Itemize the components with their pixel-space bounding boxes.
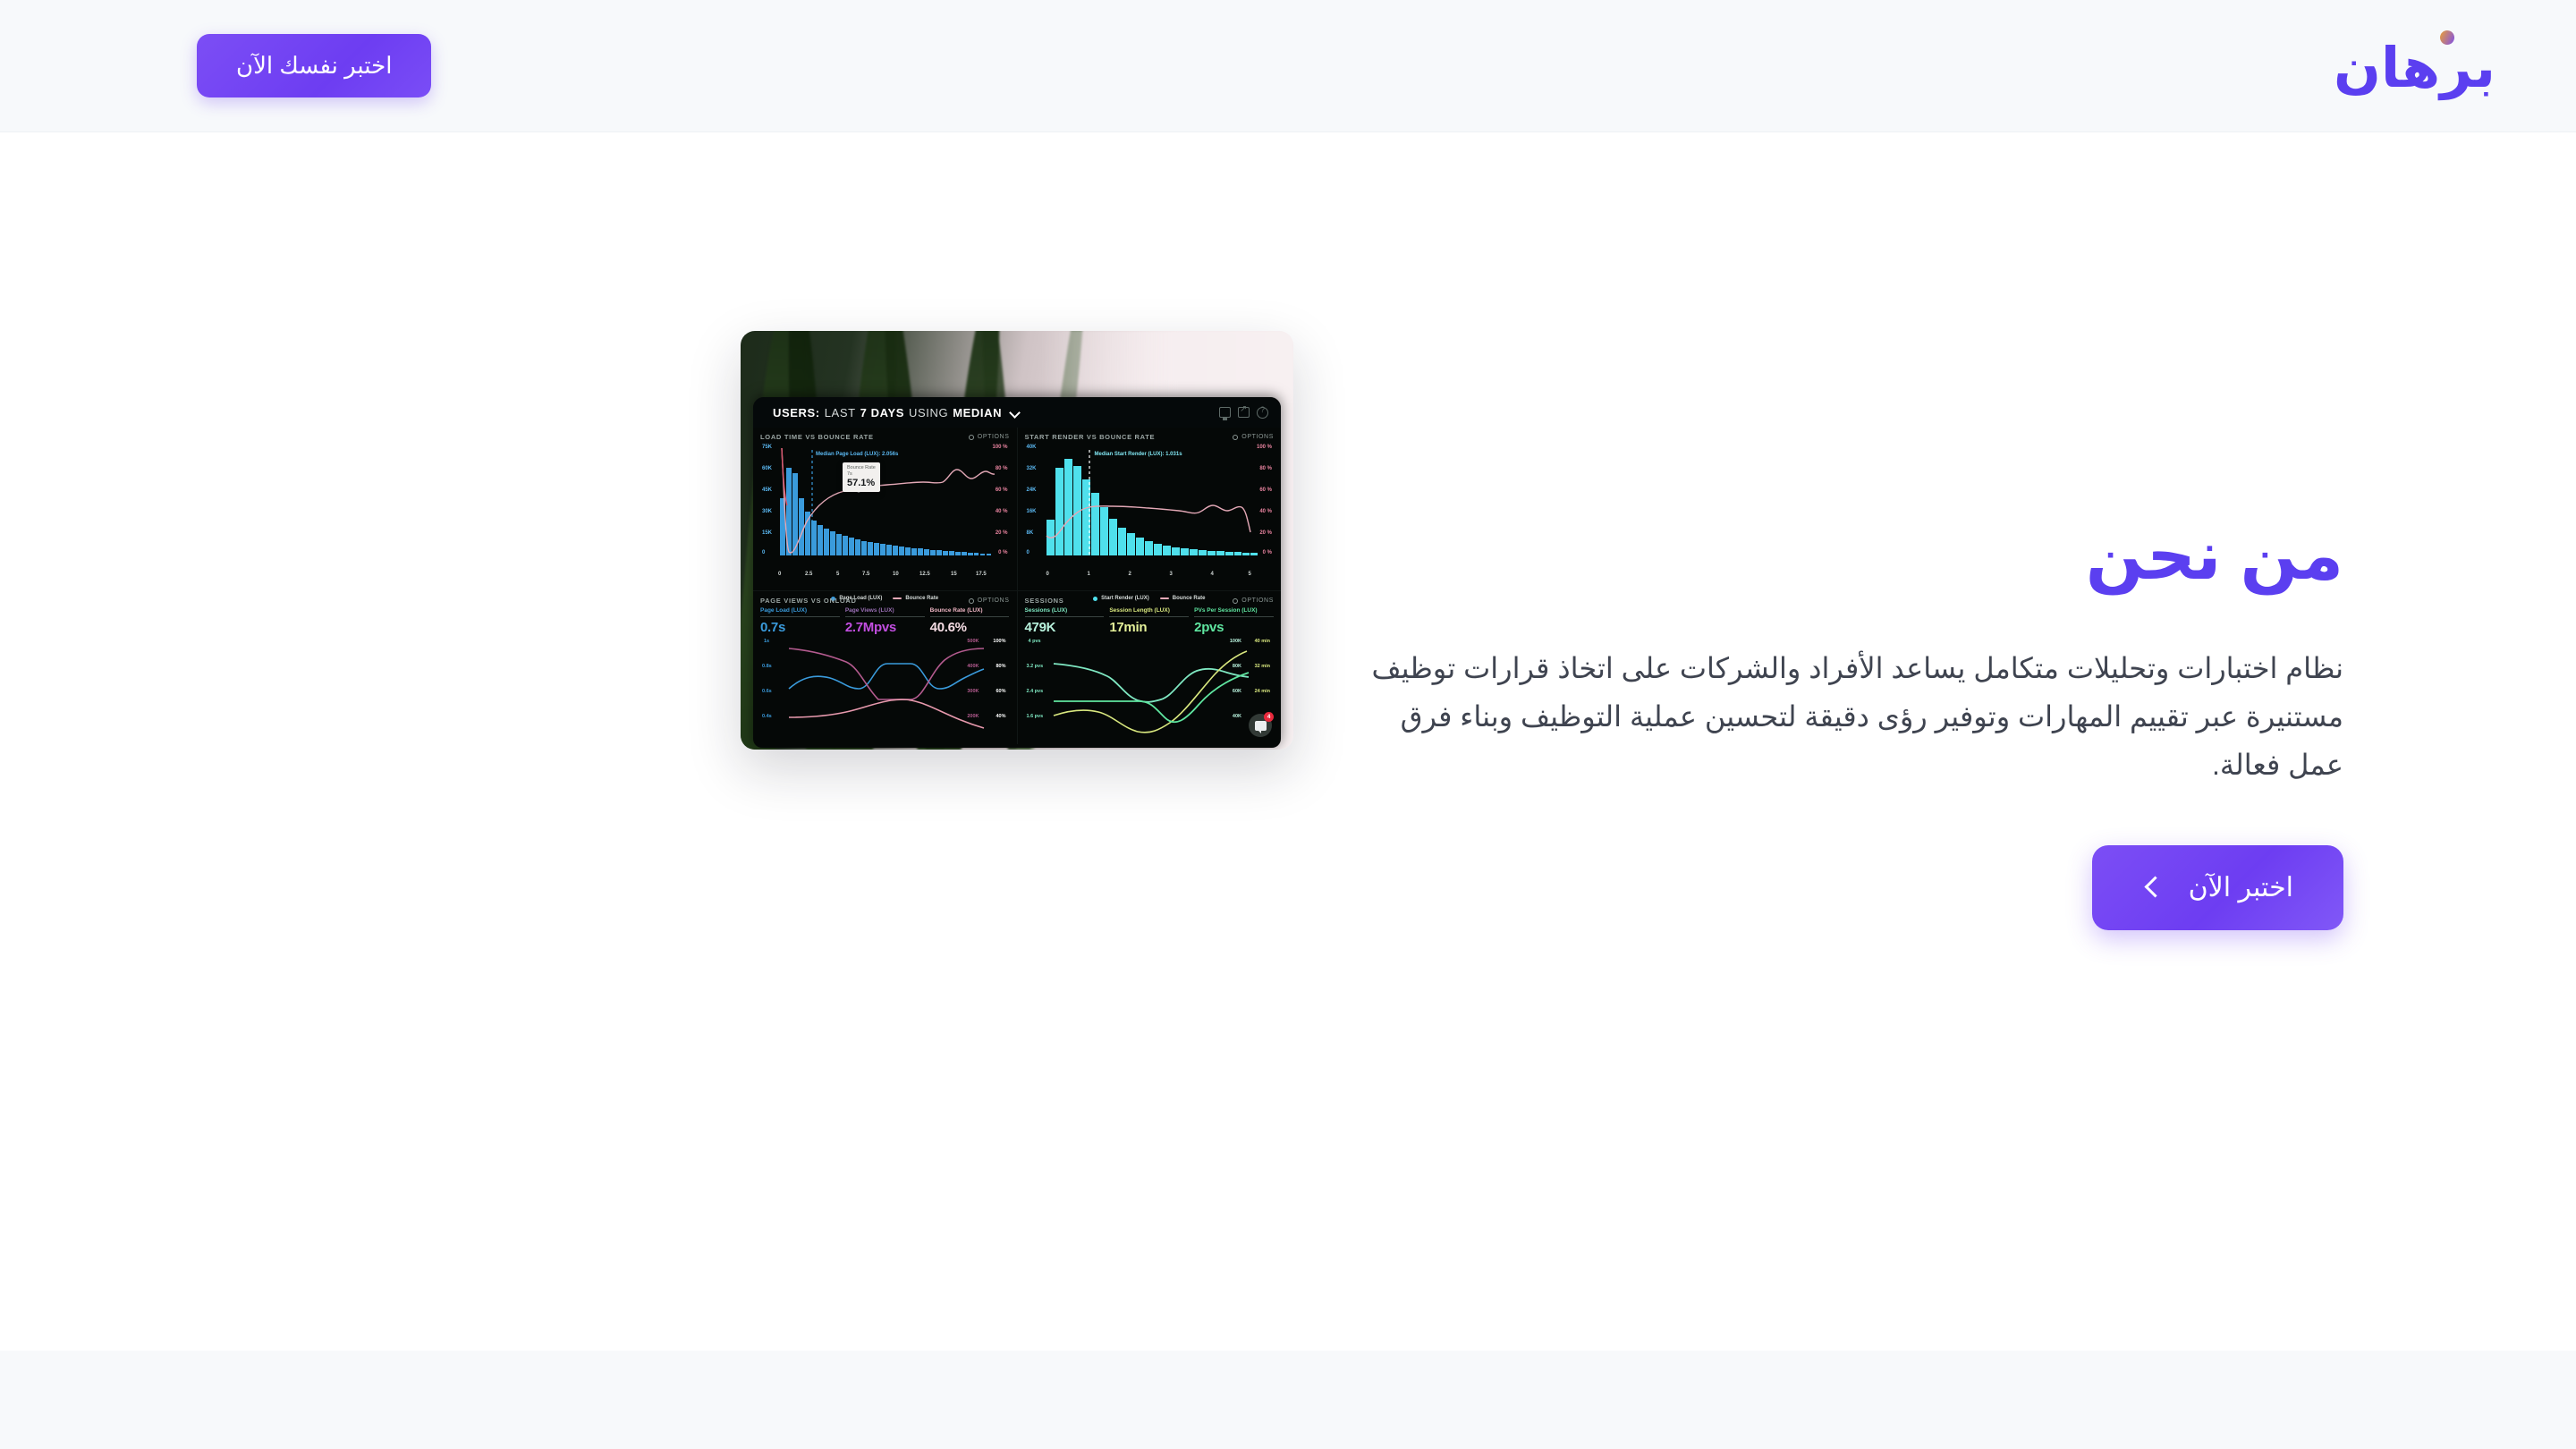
dashboard-metrics-row: PAGE VIEWS VS ONLOAD OPTIONS Page Load (… bbox=[753, 590, 1281, 744]
gear-icon bbox=[1233, 435, 1238, 440]
dashboard-topbar: USERS: LAST 7 DAYS USING MEDIAN bbox=[753, 397, 1281, 428]
gear-icon bbox=[969, 435, 974, 440]
title-mid: LAST bbox=[825, 406, 856, 419]
kpi-page-load: Page Load (LUX) 0.7s bbox=[760, 607, 840, 635]
options-button-page-views[interactable]: OPTIONS bbox=[969, 597, 1010, 604]
chat-bubble-icon bbox=[1255, 721, 1267, 731]
brand-name: برهان bbox=[2334, 38, 2495, 99]
landing-page: برهان اختبر نفسك الآن من نحن نظام اختبار… bbox=[0, 0, 2576, 1449]
hero-test-now-button[interactable]: اختبر الآن bbox=[2092, 845, 2343, 930]
kpi-sessions: Sessions (LUX) 479K bbox=[1025, 607, 1105, 635]
chart-panel-start-render: START RENDER VS BOUNCE RATE OPTIONS 40K … bbox=[1017, 428, 1282, 590]
gear-icon bbox=[969, 598, 974, 604]
chart-title-load-time: LOAD TIME VS BOUNCE RATE bbox=[760, 433, 874, 441]
chart-panel-load-time: LOAD TIME VS BOUNCE RATE OPTIONS 75K 60K… bbox=[753, 428, 1017, 590]
title-using: USING bbox=[909, 406, 948, 419]
title-metric: MEDIAN bbox=[953, 406, 1002, 419]
metric-title-page-views: PAGE VIEWS VS ONLOAD bbox=[760, 597, 857, 605]
chat-unread-badge: 4 bbox=[1264, 712, 1274, 722]
title-prefix: USERS: bbox=[773, 406, 820, 419]
gear-icon bbox=[1233, 598, 1238, 604]
kpi-bounce-rate: Bounce Rate (LUX) 40.6% bbox=[930, 607, 1010, 635]
footer-band bbox=[0, 1351, 2576, 1449]
hero-section: من نحن نظام اختبارات وتحليلات متكامل يسا… bbox=[0, 132, 2576, 1351]
mini-plot-sessions: 4 pvs 3.2 pvs 2.4 pvs 1.6 pvs 100K 80K 6… bbox=[1025, 637, 1275, 733]
hero-description: نظام اختبارات وتحليلات متكامل يساعد الأف… bbox=[1360, 645, 2343, 789]
help-icon[interactable] bbox=[1257, 407, 1268, 419]
kpi-session-length: Session Length (LUX) 17min bbox=[1109, 607, 1189, 635]
dashboard-screen: USERS: LAST 7 DAYS USING MEDIAN bbox=[753, 397, 1281, 748]
chevron-left-icon bbox=[2142, 877, 2162, 897]
dashboard-charts-row: LOAD TIME VS BOUNCE RATE OPTIONS 75K 60K… bbox=[753, 428, 1281, 590]
options-button-sessions[interactable]: OPTIONS bbox=[1233, 597, 1274, 604]
site-header: برهان اختبر نفسك الآن bbox=[0, 0, 2576, 132]
plot-start-render: 40K 32K 24K 16K 8K 0 100 % 80 % 60 % 40 … bbox=[1025, 443, 1275, 575]
median-annotation-load-time: Median Page Load (LUX): 2.056s bbox=[816, 452, 898, 457]
chart-title-start-render: START RENDER VS BOUNCE RATE bbox=[1025, 433, 1156, 441]
monitor-icon[interactable] bbox=[1219, 407, 1231, 418]
options-button-load-time[interactable]: OPTIONS bbox=[969, 434, 1010, 440]
mini-plot-page-views: 1s 0.8s 0.6s 0.4s 500K 400K 300K 200K 10… bbox=[760, 637, 1010, 733]
kpi-pvs-per-session: PVs Per Session (LUX) 2pvs bbox=[1194, 607, 1274, 635]
options-button-start-render[interactable]: OPTIONS bbox=[1233, 434, 1274, 440]
chat-widget-button[interactable]: 4 bbox=[1249, 714, 1272, 737]
title-days: 7 DAYS bbox=[860, 406, 904, 419]
metric-title-sessions: SESSIONS bbox=[1025, 597, 1064, 605]
hero-cta-label: اختبر الآن bbox=[2189, 872, 2293, 903]
chevron-down-icon[interactable] bbox=[1010, 408, 1020, 418]
dashboard-topbar-icons bbox=[1219, 407, 1268, 419]
brand-logo[interactable]: برهان bbox=[2334, 36, 2495, 97]
page-title: من نحن bbox=[1360, 517, 2343, 595]
dashboard-device-mockup: USERS: LAST 7 DAYS USING MEDIAN bbox=[741, 331, 1293, 750]
kpi-page-views: Page Views (LUX) 2.7Mpvs bbox=[845, 607, 925, 635]
share-icon[interactable] bbox=[1238, 407, 1250, 418]
tooltip-bounce-rate: Bounce Rate 7s 57.1% bbox=[843, 462, 880, 492]
plot-load-time: 75K 60K 45K 30K 15K 0 100 % 80 % 60 % 40… bbox=[760, 443, 1010, 575]
hero-text-block: من نحن نظام اختبارات وتحليلات متكامل يسا… bbox=[1360, 517, 2343, 930]
dashboard-title[interactable]: USERS: LAST 7 DAYS USING MEDIAN bbox=[773, 406, 1020, 419]
metric-panel-page-views: PAGE VIEWS VS ONLOAD OPTIONS Page Load (… bbox=[753, 591, 1017, 744]
median-annotation-start-render: Median Start Render (LUX): 1.031s bbox=[1095, 452, 1182, 457]
metric-panel-sessions: SESSIONS OPTIONS Sessions (LUX) bbox=[1017, 591, 1282, 744]
header-test-yourself-button[interactable]: اختبر نفسك الآن bbox=[197, 34, 431, 97]
